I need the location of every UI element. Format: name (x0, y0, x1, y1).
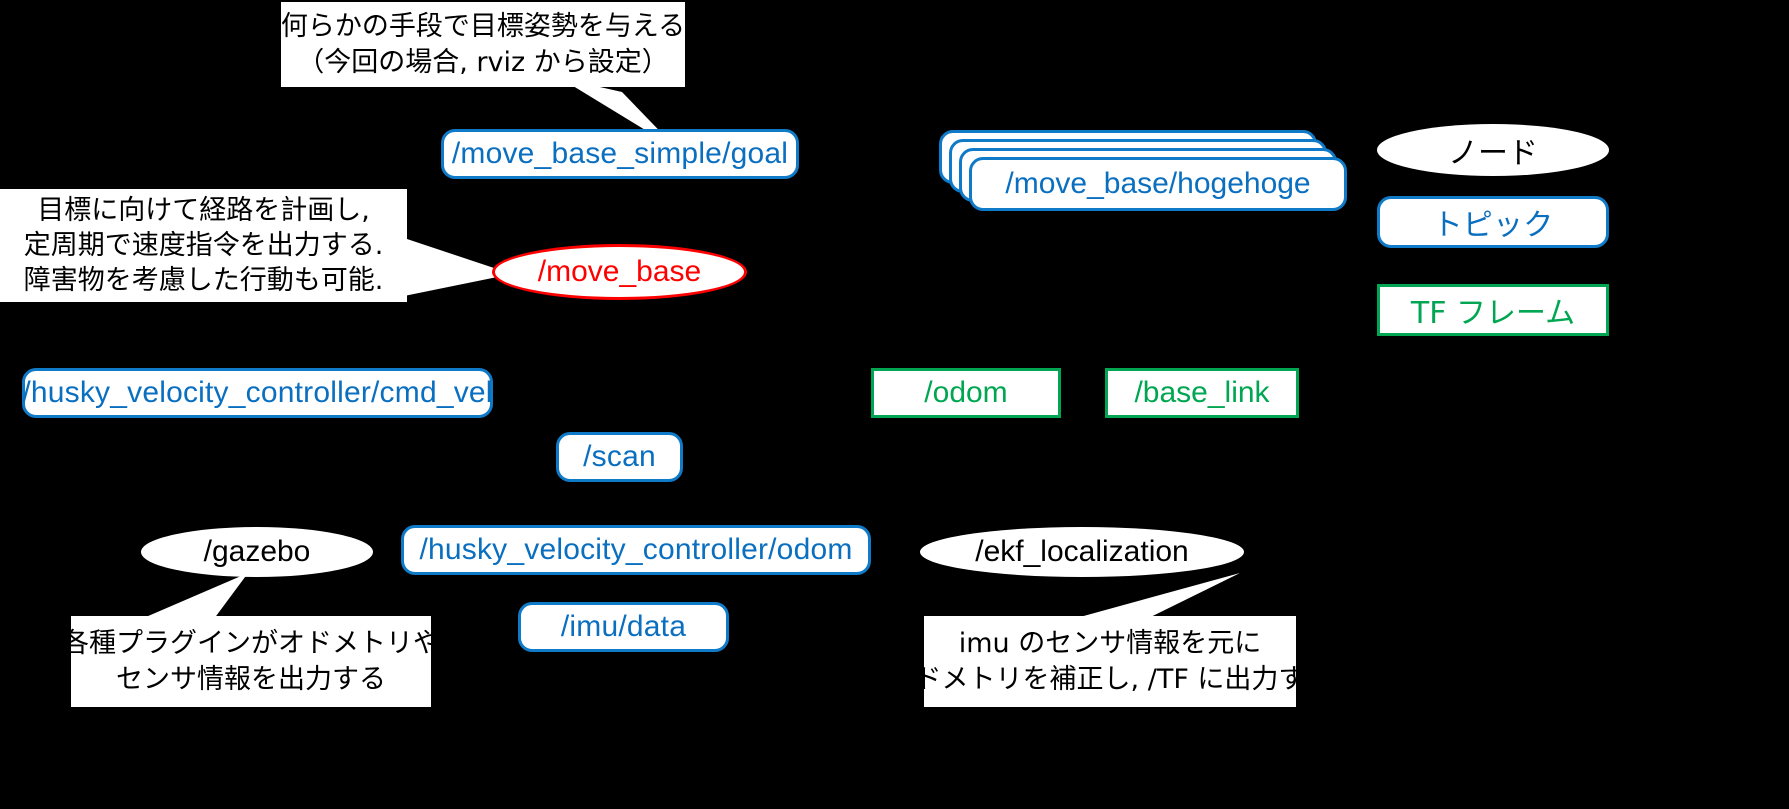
topic-scan-label: /scan (583, 440, 656, 474)
tf-frame-odom-label: /odom (924, 376, 1007, 410)
legend-topic-shape: トピック (1377, 196, 1609, 248)
node-gazebo[interactable]: /gazebo (141, 527, 373, 577)
tf-frame-base-link-label: /base_link (1134, 376, 1269, 410)
ekf-callout-line-1: imu のセンサ情報を元に (959, 626, 1262, 661)
topic-husky-cmd-vel[interactable]: /husky_velocity_controller/cmd_vel (22, 368, 493, 418)
topic-move-base-simple-goal[interactable]: /move_base_simple/goal (441, 129, 799, 179)
move-base-callout-line-1: 目標に向けて経路を計画し, (37, 193, 370, 228)
topic-stack-move-base-hogehoge[interactable]: /move_base/hogehoge (939, 130, 1339, 212)
topic-stack-card-front[interactable]: /move_base/hogehoge (969, 157, 1347, 211)
goal-callout-line-1: 何らかの手段で目標姿勢を与える (281, 9, 685, 44)
topic-imu-data[interactable]: /imu/data (518, 602, 729, 652)
move-base-callout: 目標に向けて経路を計画し, 定周期で速度指令を出力する. 障害物を考慮した行動も… (0, 189, 407, 302)
move-base-callout-line-3: 障害物を考慮した行動も可能. (24, 263, 384, 298)
topic-husky-odom-label: /husky_velocity_controller/odom (419, 533, 852, 567)
node-move-base-label: /move_base (538, 255, 701, 289)
node-ekf-localization-label: /ekf_localization (975, 535, 1188, 569)
node-move-base[interactable]: /move_base (492, 244, 747, 300)
topic-husky-cmd-vel-label: /husky_velocity_controller/cmd_vel (22, 376, 492, 410)
legend-topic-label: トピック (1433, 200, 1554, 244)
node-ekf-localization[interactable]: /ekf_localization (920, 527, 1244, 577)
legend-tf-label: TF フレーム (1411, 288, 1575, 332)
node-gazebo-label: /gazebo (204, 535, 311, 569)
topic-husky-odom[interactable]: /husky_velocity_controller/odom (401, 525, 871, 575)
legend-tf-shape: TF フレーム (1377, 284, 1609, 336)
tf-frame-base-link[interactable]: /base_link (1105, 368, 1299, 418)
goal-callout-line-2: （今回の場合, rviz から設定） (297, 45, 669, 80)
topic-label: /move_base_simple/goal (452, 137, 788, 171)
gazebo-callout-line-1: 各種プラグインがオドメトリや (62, 626, 440, 661)
tf-frame-odom[interactable]: /odom (871, 368, 1061, 418)
move-base-callout-line-2: 定周期で速度指令を出力する. (24, 228, 384, 263)
topic-scan[interactable]: /scan (556, 432, 683, 482)
gazebo-callout: 各種プラグインがオドメトリや センサ情報を出力する (71, 616, 431, 707)
topic-stack-label: /move_base/hogehoge (1005, 167, 1310, 201)
goal-callout: 何らかの手段で目標姿勢を与える （今回の場合, rviz から設定） (281, 2, 685, 87)
legend-node-label: ノード (1448, 128, 1538, 172)
topic-imu-data-label: /imu/data (561, 610, 686, 644)
legend-node-shape: ノード (1377, 124, 1609, 176)
gazebo-callout-line-2: センサ情報を出力する (116, 662, 386, 697)
diagram-canvas: 何らかの手段で目標姿勢を与える （今回の場合, rviz から設定） /move… (0, 0, 1789, 809)
ekf-callout-line-2: オドメトリを補正し, /TF に出力する (888, 662, 1333, 697)
ekf-callout: imu のセンサ情報を元に オドメトリを補正し, /TF に出力する (924, 616, 1296, 707)
